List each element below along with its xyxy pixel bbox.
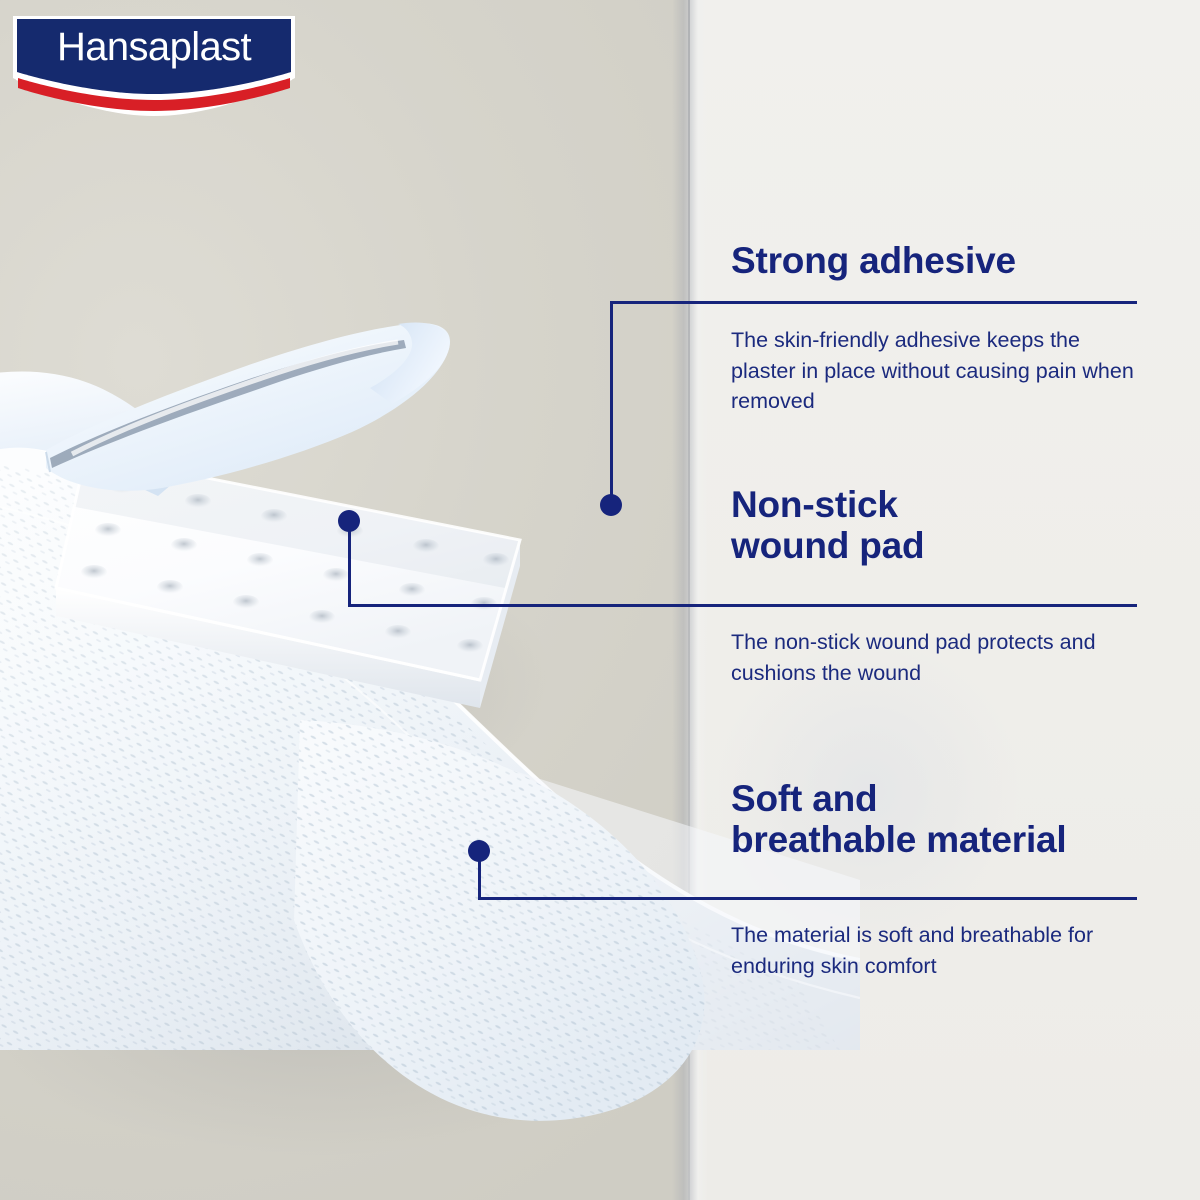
callout-3-heading-line-1: Soft and [731, 778, 1067, 819]
protective-film [0, 290, 500, 560]
callout-1-rule [610, 301, 1137, 304]
hansaplast-logo-shape [13, 16, 295, 116]
callout-3-rule [478, 897, 1137, 900]
callout-2-heading-line-1: Non-stick [731, 484, 924, 525]
callout-3-anchor-dot [468, 840, 490, 862]
callout-1-heading-line-1: Strong adhesive [731, 240, 1016, 281]
callout-2-heading-line-2: wound pad [731, 525, 924, 566]
callout-2-rule [348, 604, 1137, 607]
callout-2-leader-line [348, 521, 351, 607]
callout-1-leader-line [610, 301, 613, 507]
callout-3-heading-line-2: breathable material [731, 819, 1067, 860]
callout-3-heading: Soft and breathable material [731, 778, 1067, 861]
callout-1-heading: Strong adhesive [731, 240, 1016, 281]
infographic-canvas: Strong adhesive The skin-friendly adhesi… [0, 0, 1200, 1200]
callout-2-anchor-dot [338, 510, 360, 532]
callout-3-body: The material is soft and breathable for … [731, 920, 1141, 981]
callout-1-body: The skin-friendly adhesive keeps the pla… [731, 325, 1139, 417]
callout-1-anchor-dot [600, 494, 622, 516]
callout-2-body: The non-stick wound pad protects and cus… [731, 627, 1141, 688]
hansaplast-logo[interactable]: Hansaplast [13, 16, 295, 116]
callout-2-heading: Non-stick wound pad [731, 484, 924, 567]
